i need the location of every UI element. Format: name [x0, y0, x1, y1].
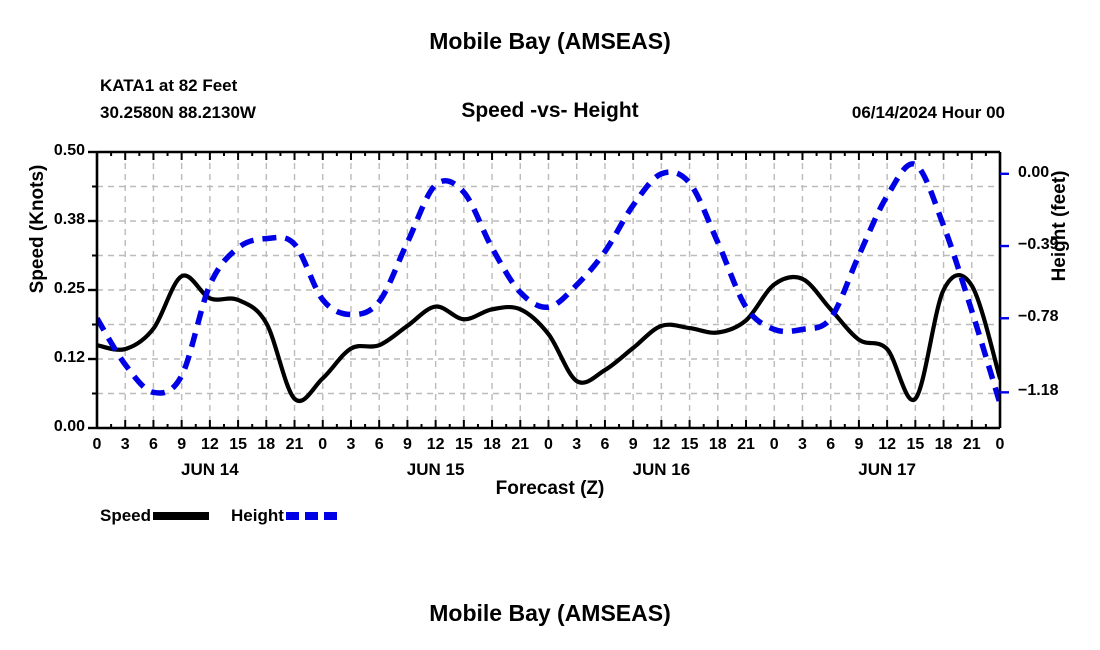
y-axis-right-tick-label: −1.18 [1018, 382, 1080, 400]
x-axis-tick-label: 15 [449, 436, 479, 454]
x-axis-tick-label: 6 [816, 436, 846, 454]
x-axis-tick-label: 6 [590, 436, 620, 454]
y-axis-left-tick-label: 0.12 [23, 349, 85, 367]
x-axis-tick-label: 21 [505, 436, 535, 454]
x-axis-tick-label: 3 [787, 436, 817, 454]
x-axis-tick-label: 12 [421, 436, 451, 454]
y-axis-right-tick-label: −0.39 [1018, 236, 1080, 254]
chart-page: Mobile Bay (AMSEAS) KATA1 at 82 Feet 30.… [0, 0, 1100, 650]
legend-swatch-height [286, 512, 342, 520]
x-axis-day-label: JUN 14 [150, 460, 270, 480]
x-axis-tick-label: 9 [167, 436, 197, 454]
x-axis-tick-label: 3 [562, 436, 592, 454]
x-axis-tick-label: 9 [392, 436, 422, 454]
y-axis-left-tick-label: 0.38 [23, 211, 85, 229]
x-axis-tick-label: 9 [844, 436, 874, 454]
x-axis-tick-label: 9 [618, 436, 648, 454]
x-axis-tick-label: 0 [759, 436, 789, 454]
x-axis-tick-label: 0 [82, 436, 112, 454]
page-title-bottom: Mobile Bay (AMSEAS) [0, 600, 1100, 627]
chart-legend: Speed Height [100, 506, 364, 526]
x-axis-tick-label: 21 [731, 436, 761, 454]
x-axis-tick-label: 3 [336, 436, 366, 454]
x-axis-tick-label: 0 [308, 436, 338, 454]
legend-item-height: Height [231, 506, 364, 526]
x-axis-tick-label: 18 [251, 436, 281, 454]
y-axis-left-tick-label: 0.00 [23, 418, 85, 436]
x-axis-tick-label: 18 [929, 436, 959, 454]
y-axis-left-tick-label: 0.25 [23, 280, 85, 298]
x-axis-tick-label: 21 [280, 436, 310, 454]
x-axis-day-label: JUN 16 [601, 460, 721, 480]
y-axis-right-tick-label: 0.00 [1018, 164, 1080, 182]
x-axis-tick-label: 3 [110, 436, 140, 454]
x-axis-tick-label: 15 [675, 436, 705, 454]
legend-label-speed: Speed [100, 506, 151, 526]
x-axis-tick-label: 15 [223, 436, 253, 454]
legend-label-height: Height [231, 506, 284, 526]
chart-plot-area [0, 0, 1100, 650]
legend-item-speed: Speed [100, 506, 231, 526]
x-axis-day-label: JUN 15 [376, 460, 496, 480]
x-axis-tick-label: 12 [872, 436, 902, 454]
series-line-speed [97, 275, 1000, 401]
x-axis-tick-label: 12 [195, 436, 225, 454]
y-axis-left-tick-label: 0.50 [23, 142, 85, 160]
x-axis-day-label: JUN 17 [827, 460, 947, 480]
y-axis-right-tick-label: −0.78 [1018, 308, 1080, 326]
x-axis-tick-label: 0 [534, 436, 564, 454]
legend-swatch-speed [153, 512, 209, 520]
x-axis-tick-label: 12 [646, 436, 676, 454]
x-axis-tick-label: 6 [364, 436, 394, 454]
x-axis-tick-label: 21 [957, 436, 987, 454]
x-axis-tick-label: 15 [900, 436, 930, 454]
x-axis-tick-label: 0 [985, 436, 1015, 454]
x-axis-tick-label: 18 [477, 436, 507, 454]
x-axis-tick-label: 18 [703, 436, 733, 454]
x-axis-tick-label: 6 [138, 436, 168, 454]
